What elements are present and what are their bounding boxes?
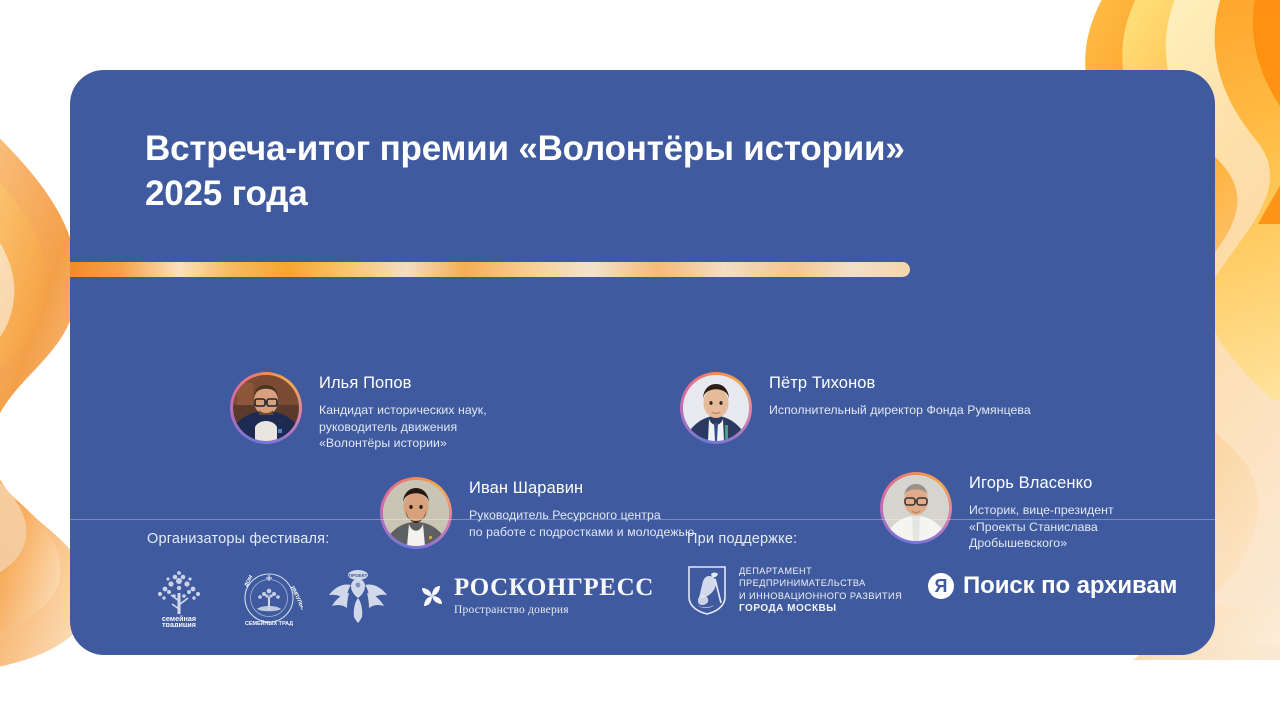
roscongress-logo: РОСКОНГРЕСС Пространство доверия [419,575,654,617]
speaker-info: Пётр Тихонов Исполнительный директор Фон… [769,372,1031,419]
organizers-section: Организаторы фестиваля: [147,531,654,627]
speaker-name: Иван Шаравин [469,479,694,499]
avatar [680,372,752,444]
dep-line-1: ДЕПАРТАМЕНТ [739,565,902,577]
speaker-role: Кандидат исторических наук, руководитель… [319,402,487,453]
dep-line-2: ПРЕДПРИНИМАТЕЛЬСТВА [739,577,902,589]
dep-line-4: ГОРОДА МОСКВЫ [739,602,902,615]
roscongress-subtitle: Пространство доверия [454,605,654,617]
moscow-coat-of-arms-icon [687,565,727,615]
speaker-photo [683,375,749,441]
roscongress-text: РОСКОНГРЕСС Пространство доверия [454,575,654,617]
dep-line-3: И ИННОВАЦИОННОГО РАЗВИТИЯ [739,590,902,602]
speaker-card: Пётр Тихонов Исполнительный директор Фон… [680,372,1031,444]
yandex-archive-label: Поиск по архивам [963,572,1177,600]
speaker-info: Игорь Власенко Историк, вице-президент «… [969,472,1114,552]
moscow-department-logo: ДЕПАРТАМЕНТ ПРЕДПРИНИМАТЕЛЬСТВА И ИННОВА… [687,565,902,615]
speaker-card: Игорь Власенко Историк, вице-президент «… [880,472,1114,552]
speaker-role: Исполнительный директор Фонда Румянцева [769,402,1031,419]
roscongress-mark-icon [419,583,445,609]
svg-text:СЕМЕЙНЫХ ТРАД: СЕМЕЙНЫХ ТРАД [245,619,293,627]
svg-text:ДОМ: ДОМ [243,574,254,587]
dom-semeynyh-traditsiy-logo: СЕМЕЙНЫХ ТРАД ИМПУЛЬС ДОМ [235,565,303,627]
avatar [230,372,302,444]
speaker-name: Игорь Власенко [969,474,1114,494]
slide-canvas: Встреча-итог премии «Волонтёры истории» … [0,0,1280,721]
speaker-card: Илья Попов Кандидат исторических наук, р… [230,372,487,452]
speaker-name: Пётр Тихонов [769,374,1031,394]
support-section: При поддержке: [687,531,902,615]
footer-divider [70,519,1215,520]
speaker-info: Илья Попов Кандидат исторических наук, р… [319,372,487,452]
organizers-heading: Организаторы фестиваля: [147,531,654,547]
moscow-department-text: ДЕПАРТАМЕНТ ПРЕДПРИНИМАТЕЛЬСТВА И ИННОВА… [739,565,902,615]
organizer-logos: семейная традиция [147,565,654,627]
yandex-mark-icon: Я [928,573,954,599]
speaker-name: Илья Попов [319,374,487,394]
speaker-role: Историк, вице-президент «Проекты Станисл… [969,502,1114,553]
yandex-archive-search-logo: Я Поиск по архивам [928,572,1177,600]
semeynaya-traditsiya-logo: семейная традиция [147,565,211,627]
support-heading: При поддержке: [687,531,902,547]
roscongress-title: РОСКОНГРЕСС [454,575,654,600]
eagle-emblem-logo: ПРОЕКТ [327,565,389,627]
svg-text:традиция: традиция [162,620,196,627]
support-logos: ДЕПАРТАМЕНТ ПРЕДПРИНИМАТЕЛЬСТВА И ИННОВА… [687,565,902,615]
yandex-letter: Я [935,577,948,595]
speaker-photo [233,375,299,441]
svg-text:ПРОЕКТ: ПРОЕКТ [349,573,368,578]
